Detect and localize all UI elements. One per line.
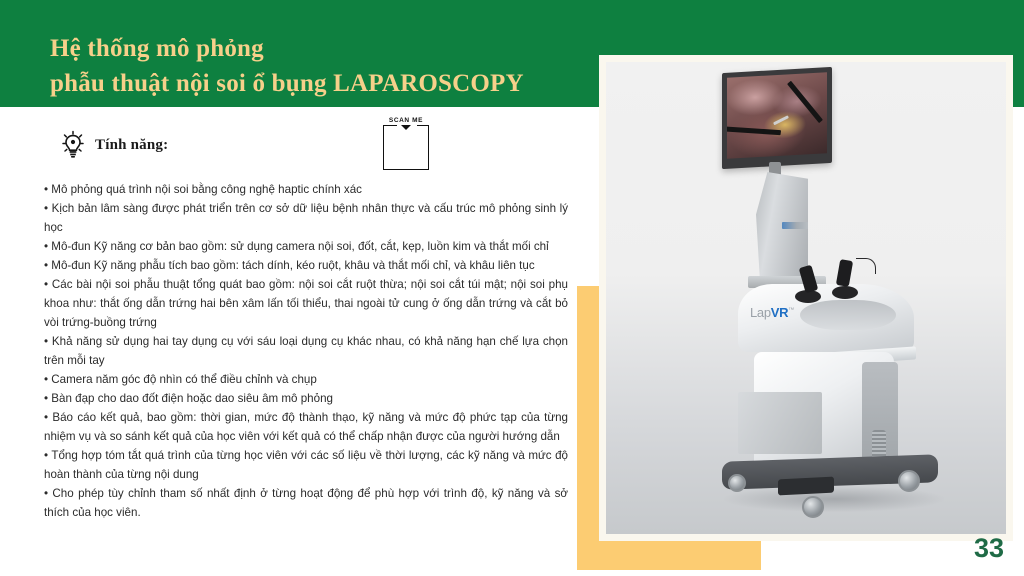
list-item: • Tổng hợp tóm tắt quá trình của từng họ… <box>44 446 568 484</box>
caster-wheel <box>898 470 920 492</box>
page-title: Hệ thống mô phỏng phẫu thuật nội soi ổ b… <box>50 32 590 101</box>
list-item: • Kịch bản lâm sàng được phát triển trên… <box>44 199 568 237</box>
scan-me-block[interactable]: SCAN ME <box>383 117 429 170</box>
features-bullet-list: • Mô phỏng quá trình nội soi bằng công n… <box>44 180 568 522</box>
features-heading: Tính năng: <box>60 130 168 160</box>
console-well <box>800 300 896 330</box>
page-title-line-1: Hệ thống mô phỏng <box>50 35 264 62</box>
list-item: • Cho phép tùy chỉnh tham số nhất định ở… <box>44 484 568 522</box>
list-item: • Mô-đun Kỹ năng phẫu tích bao gồm: tách… <box>44 256 568 275</box>
slide-root: Hệ thống mô phỏng phẫu thuật nội soi ổ b… <box>0 0 1024 576</box>
features-heading-label: Tính năng: <box>95 137 168 154</box>
caster-wheel <box>728 474 746 492</box>
cart-shelf <box>738 392 822 454</box>
instrument-handle-right <box>836 259 853 287</box>
product-image-card: LapVR™ <box>599 55 1013 541</box>
chevron-down-icon <box>401 125 411 130</box>
page-number: 33 <box>974 533 1004 564</box>
lapvr-logo-vr: VR <box>771 305 788 320</box>
page-title-line-2: phẫu thuật nội soi ổ bụng LAPAROSCOPY <box>50 67 590 102</box>
laparoscopic-view-screen <box>727 72 827 159</box>
instrument-port-right <box>832 286 858 299</box>
instrument-shaft-right-icon <box>787 81 823 123</box>
list-item: • Bàn đạp cho dao đốt điện hoặc dao siêu… <box>44 389 568 408</box>
instrument-shaft-left-icon <box>727 126 781 135</box>
qr-code-frame-icon[interactable] <box>383 125 429 170</box>
list-item: • Báo cáo kết quả, bao gồm: thời gian, m… <box>44 408 568 446</box>
list-item: • Camera năm góc độ nhìn có thể điều chỉ… <box>44 370 568 389</box>
lapvr-logo-tm: ™ <box>788 308 794 314</box>
instrument-tip-icon <box>773 115 789 125</box>
list-item: • Mô-đun Kỹ năng cơ bản bao gồm: sử dụng… <box>44 237 568 256</box>
manufacturer-logo <box>782 222 808 229</box>
lightbulb-icon <box>60 130 86 160</box>
list-item: • Các bài nội soi phẫu thuật tổng quát b… <box>44 275 568 332</box>
lapvr-logo: LapVR™ <box>750 305 794 320</box>
monitor-icon <box>722 67 832 169</box>
list-item: • Mô phỏng quá trình nội soi bằng công n… <box>44 180 568 199</box>
lapvr-logo-lap: Lap <box>750 305 771 320</box>
caster-wheel <box>802 496 824 518</box>
list-item: • Khả năng sử dụng hai tay dụng cụ với s… <box>44 332 568 370</box>
lapvr-simulator-photo: LapVR™ <box>606 62 1006 534</box>
foot-pedal <box>778 477 834 496</box>
instrument-cable <box>856 258 876 274</box>
